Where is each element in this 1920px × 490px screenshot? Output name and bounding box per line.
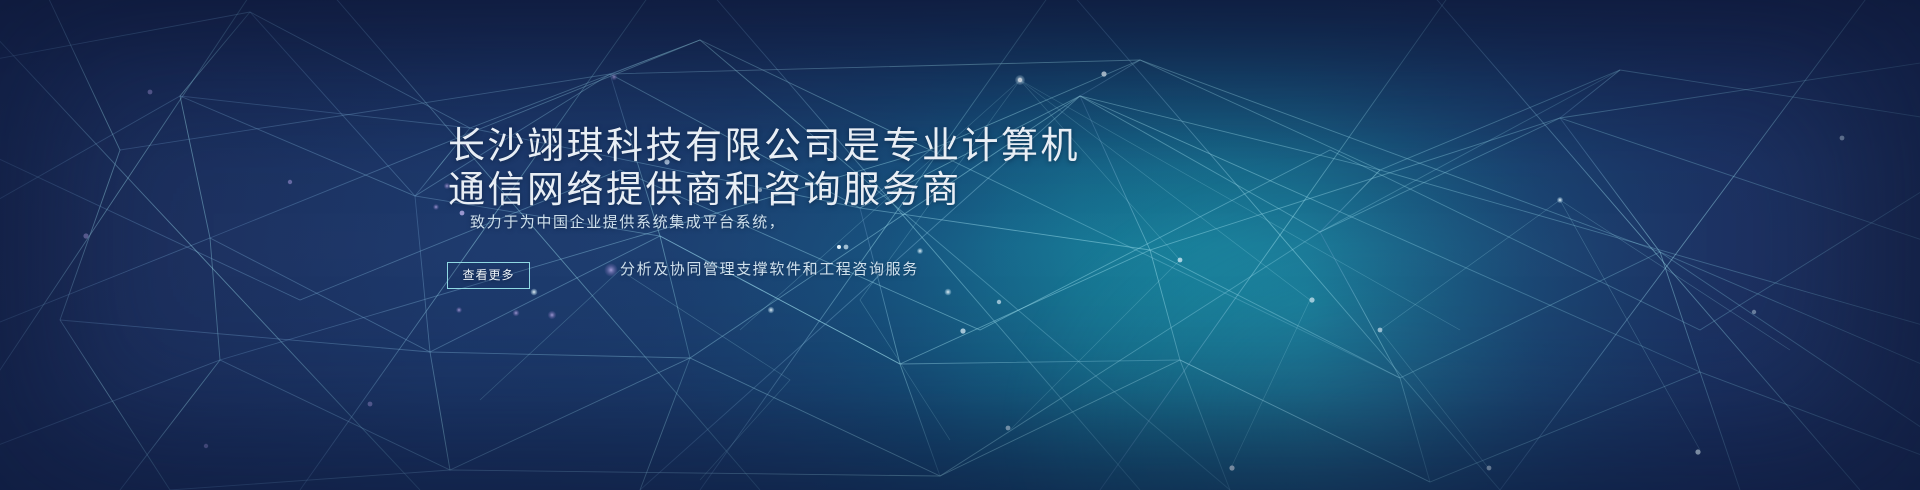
subtitle-line-2: 分析及协同管理支撑软件和工程咨询服务	[620, 259, 1110, 280]
banner-headline: 长沙翊琪科技有限公司是专业计算机 通信网络提供商和咨询服务商	[448, 124, 1068, 212]
view-more-button[interactable]: 查看更多	[447, 262, 530, 289]
headline-line-1: 长沙翊琪科技有限公司是专业计算机	[448, 124, 1068, 168]
banner-subtitle: 致力于为中国企业提供系统集成平台系统， 分析及协同管理支撑软件和工程咨询服务	[470, 212, 1110, 280]
headline-line-2: 通信网络提供商和咨询服务商	[448, 168, 1068, 212]
subtitle-line-1: 致力于为中国企业提供系统集成平台系统，	[470, 214, 785, 231]
hero-banner: 长沙翊琪科技有限公司是专业计算机 通信网络提供商和咨询服务商 致力于为中国企业提…	[0, 0, 1920, 490]
banner-content: 长沙翊琪科技有限公司是专业计算机 通信网络提供商和咨询服务商 致力于为中国企业提…	[0, 0, 1920, 490]
